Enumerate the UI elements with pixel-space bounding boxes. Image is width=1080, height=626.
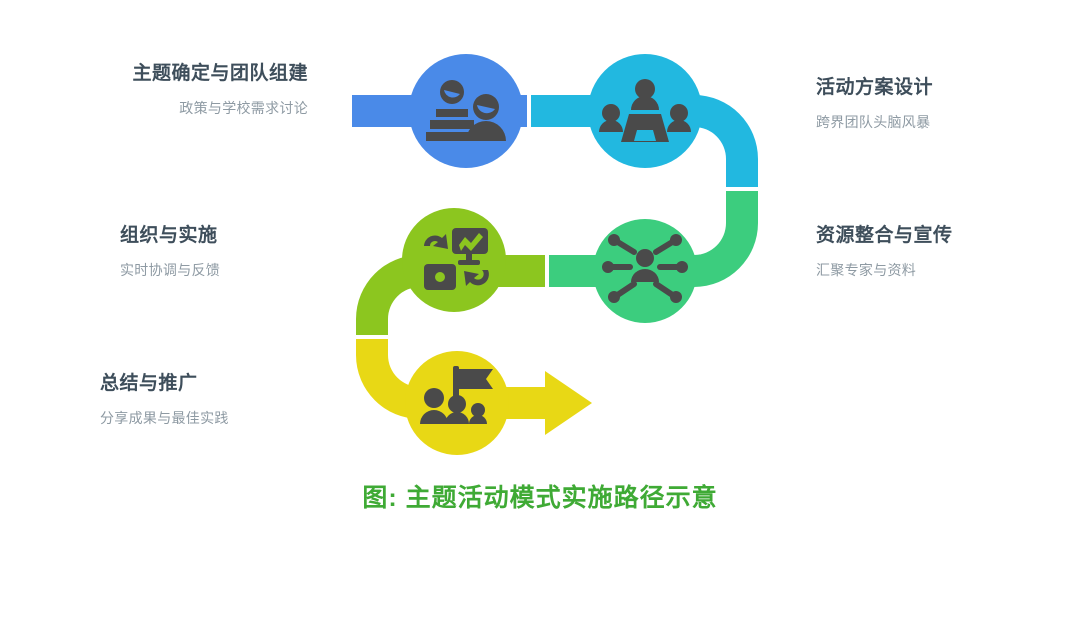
flow-arrow-head-icon: [525, 371, 592, 435]
step-title-3: 资源整合与宣传: [816, 224, 1066, 248]
step-subtitle-4: 实时协调与反馈: [120, 262, 308, 280]
step-subtitle-2: 跨界团队头脑风暴: [816, 114, 1066, 132]
step-label-1: 主题确定与团队组建 政策与学校需求讨论: [60, 62, 308, 117]
step-title-5: 总结与推广: [100, 372, 308, 396]
step-subtitle-3: 汇聚专家与资料: [816, 262, 1066, 280]
step-title-4: 组织与实施: [120, 224, 308, 248]
step-label-4: 组织与实施 实时协调与反馈: [120, 224, 308, 279]
step-label-5: 总结与推广 分享成果与最佳实践: [100, 372, 308, 427]
step-subtitle-5: 分享成果与最佳实践: [100, 410, 308, 428]
step-label-2: 活动方案设计 跨界团队头脑风暴: [816, 76, 1066, 131]
flow-node-step-5[interactable]: [405, 351, 509, 455]
flow-node-step-1[interactable]: [409, 54, 523, 168]
step-title-1: 主题确定与团队组建: [60, 62, 308, 86]
step-subtitle-1: 政策与学校需求讨论: [60, 100, 308, 118]
flow-node-step-3[interactable]: [593, 219, 697, 323]
flow-node-step-4[interactable]: [402, 208, 506, 312]
infographic-canvas: 主题确定与团队组建 政策与学校需求讨论 活动方案设计 跨界团队头脑风暴 资源整合…: [0, 0, 1080, 626]
figure-caption: 图: 主题活动模式实施路径示意: [0, 478, 1080, 514]
step-title-2: 活动方案设计: [816, 76, 1066, 100]
flow-node-step-2[interactable]: [588, 54, 702, 168]
step-label-3: 资源整合与宣传 汇聚专家与资料: [816, 224, 1066, 279]
